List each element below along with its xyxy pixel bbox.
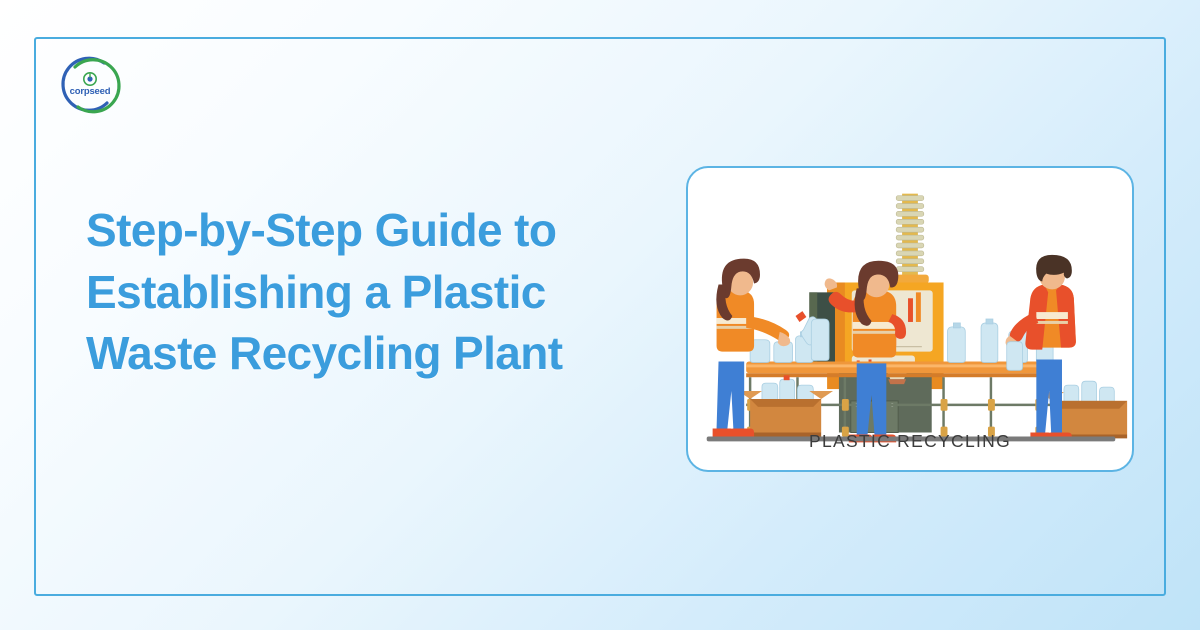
- logo-wordmark: corpseed: [58, 87, 122, 97]
- illustration-caption: PLASTIC RECYCLING: [688, 431, 1132, 452]
- cardboard-box-left: [738, 375, 833, 436]
- corpseed-circular-logo-icon: [58, 54, 122, 116]
- corpseed-logo[interactable]: corpseed: [58, 54, 122, 116]
- recycling-scene-svg: [688, 168, 1132, 470]
- illustration-card: PLASTIC RECYCLING: [686, 166, 1134, 472]
- plastic-bottles-left: [750, 311, 829, 362]
- page-title: Step-by-Step Guide to Establishing a Pla…: [86, 200, 666, 385]
- plastic-recycling-illustration: [688, 168, 1132, 470]
